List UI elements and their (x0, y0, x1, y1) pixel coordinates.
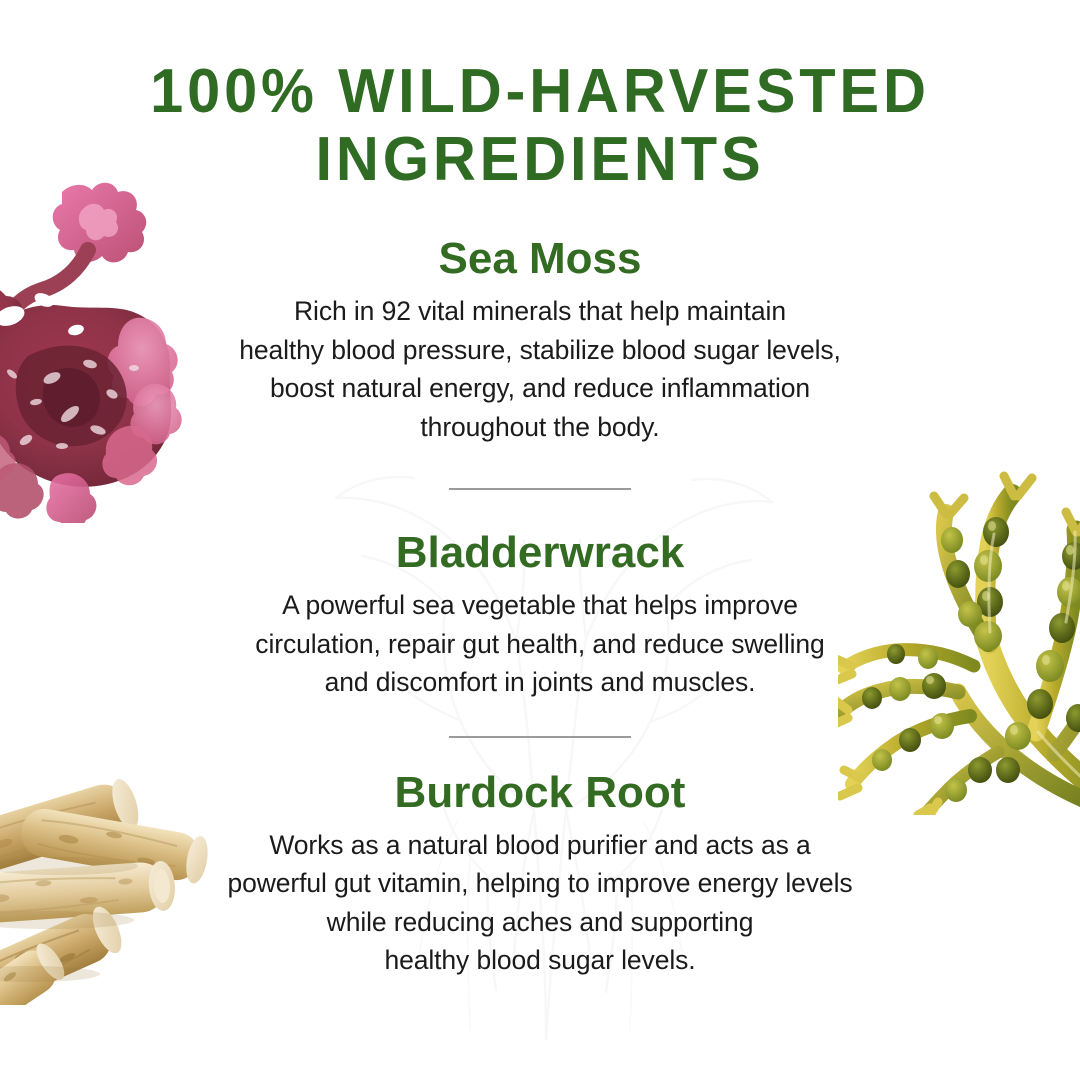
title-line-2: INGREDIENTS (22, 126, 1059, 194)
poster-title: 100% WILD-HARVESTED INGREDIENTS (0, 58, 1080, 194)
description-line: and discomfort in joints and muscles. (140, 663, 940, 702)
ingredient-description-bladderwrack: A powerful sea vegetable that helps impr… (140, 586, 940, 702)
description-line: A powerful sea vegetable that helps impr… (140, 586, 940, 625)
ingredient-description-sea-moss: Rich in 92 vital minerals that help main… (140, 292, 940, 446)
ingredient-section-sea-moss: Sea Moss Rich in 92 vital minerals that … (140, 232, 940, 446)
description-line: healthy blood sugar levels. (140, 941, 940, 980)
ingredient-heading-sea-moss: Sea Moss (140, 232, 940, 286)
description-line: Rich in 92 vital minerals that help main… (140, 292, 940, 331)
ingredients-poster: 100% WILD-HARVESTED INGREDIENTS (0, 0, 1080, 1080)
ingredient-section-burdock-root: Burdock Root Works as a natural blood pu… (140, 766, 940, 980)
ingredients-content: Sea Moss Rich in 92 vital minerals that … (140, 232, 940, 980)
description-line: Works as a natural blood purifier and ac… (140, 826, 940, 865)
ingredient-heading-bladderwrack: Bladderwrack (140, 526, 940, 580)
description-line: powerful gut vitamin, helping to improve… (140, 864, 940, 903)
ingredient-heading-burdock-root: Burdock Root (140, 766, 940, 820)
divider-line (449, 488, 631, 490)
ingredient-section-bladderwrack: Bladderwrack A powerful sea vegetable th… (140, 526, 940, 702)
description-line: while reducing aches and supporting (140, 903, 940, 942)
divider-line (449, 736, 631, 738)
title-line-1: 100% WILD-HARVESTED (22, 58, 1059, 126)
description-line: boost natural energy, and reduce inflamm… (140, 369, 940, 408)
description-line: healthy blood pressure, stabilize blood … (140, 331, 940, 370)
description-line: throughout the body. (140, 408, 940, 447)
ingredient-description-burdock-root: Works as a natural blood purifier and ac… (140, 826, 940, 980)
description-line: circulation, repair gut health, and redu… (140, 625, 940, 664)
